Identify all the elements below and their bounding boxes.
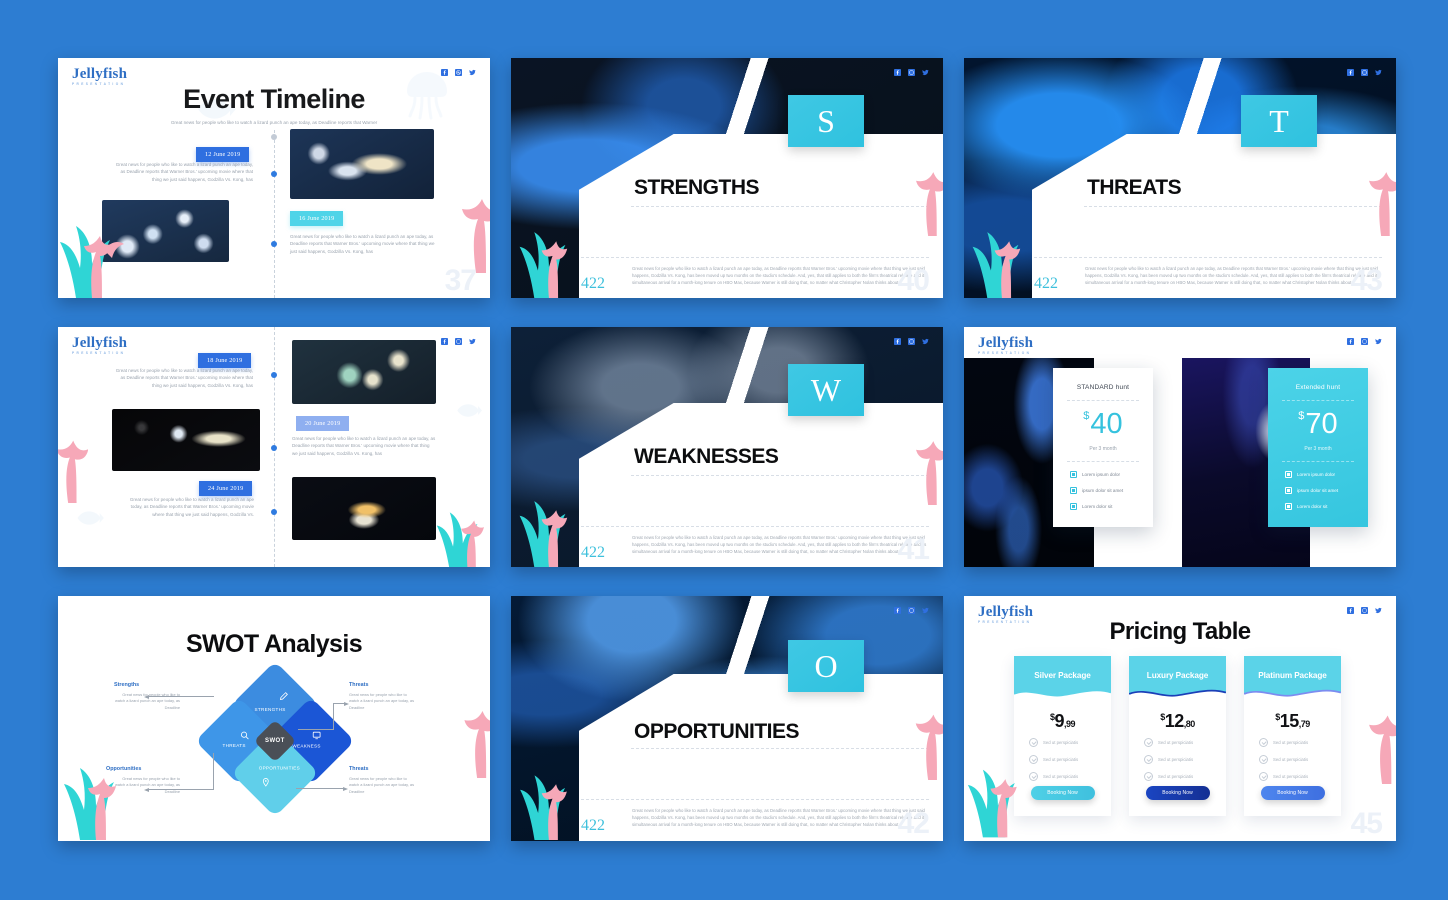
swot-callout-text: Great news for people who like to watch … [114, 776, 180, 795]
timeline-dot [271, 134, 277, 140]
seaweed-coral-decoration-icon [430, 475, 490, 567]
bullet-square-icon [1285, 471, 1292, 478]
dribbble-icon[interactable] [1361, 338, 1368, 345]
coral-decoration-icon [1362, 696, 1396, 784]
booking-now-button[interactable]: Booking Now [1146, 786, 1210, 800]
swot-diagram: STRENGTHS THREATS WEAKNESS OPPORTUNITIES… [210, 678, 340, 803]
check-circle-icon [1259, 772, 1268, 781]
bullet-square-icon [1285, 503, 1292, 510]
brand-logo-subtitle: PRESENTATION [978, 351, 1033, 355]
pricing-card-period: Per 3 month [1268, 446, 1368, 452]
check-circle-icon [1259, 755, 1268, 764]
letter-badge: T [1241, 95, 1317, 147]
page-number: 41 [898, 535, 929, 565]
pricing-feature-label: Sed ut perspiciatis [1158, 757, 1193, 762]
twitter-icon[interactable] [922, 607, 929, 614]
timeline-photo[interactable] [112, 409, 260, 471]
pricing-card-header: Luxury Package [1129, 656, 1226, 699]
connector-arrow [148, 789, 214, 790]
check-circle-icon [1144, 755, 1153, 764]
dribbble-icon[interactable] [1361, 69, 1368, 76]
pricing-feature: Sed ut perspiciatis [1244, 738, 1341, 747]
facebook-icon[interactable] [894, 338, 901, 345]
price-decimal: ,80 [1184, 719, 1195, 729]
timeline-text: Great news for people who like to watch … [118, 496, 254, 518]
swot-callout-text: Great news for people who like to watch … [349, 692, 415, 711]
check-circle-icon [1259, 738, 1268, 747]
check-circle-icon [1029, 772, 1038, 781]
divider [581, 257, 929, 258]
facebook-icon[interactable] [1347, 338, 1354, 345]
brand-logo-subtitle: PRESENTATION [72, 351, 127, 355]
section-heading: THREATS [1087, 176, 1181, 200]
letter-badge-text: T [1269, 105, 1289, 137]
pricing-card-period: Per 3 month [1053, 446, 1153, 452]
swot-callout-label-threats-2: Threats [349, 766, 368, 772]
slide-event-timeline-2[interactable]: Jellyfish PRESENTATION 18 June 2019 Grea… [58, 327, 490, 567]
twitter-icon[interactable] [469, 338, 476, 345]
pricing-feature-label: Sed ut perspiciatis [1043, 774, 1078, 779]
divider [631, 748, 929, 749]
fish-watermark-icon [456, 402, 482, 419]
brand-logo[interactable]: Jellyfish PRESENTATION [72, 335, 127, 355]
pricing-feature-label: Sed ut perspiciatis [1043, 757, 1078, 762]
bullet-square-icon [1070, 471, 1077, 478]
brand-logo-text: Jellyfish [72, 335, 127, 351]
facebook-icon[interactable] [1347, 69, 1354, 76]
swot-diamond-label: STRENGTHS [255, 707, 286, 712]
pricing-feature: ipsum dolor sit amet [1053, 487, 1153, 494]
check-circle-icon [1029, 738, 1038, 747]
slide-pricing-table[interactable]: Jellyfish PRESENTATION Pricing Table Sil… [964, 596, 1396, 841]
section-body: Great news for people who like to watch … [632, 266, 930, 287]
slide-opportunities[interactable]: O OPPORTUNITIES 422 Great news for peopl… [511, 596, 943, 841]
pricing-card-header: Platinum Package [1244, 656, 1341, 699]
brand-logo-text: Jellyfish [72, 66, 127, 82]
connector-arrow [148, 696, 214, 697]
dribbble-icon[interactable] [455, 69, 462, 76]
booking-now-button[interactable]: Booking Now [1031, 786, 1095, 800]
pricing-card-price: $9,99 [1014, 712, 1111, 730]
check-circle-icon [1029, 755, 1038, 764]
page-number: 44 [1351, 535, 1382, 565]
timeline-photo[interactable] [292, 340, 436, 404]
twitter-icon[interactable] [469, 69, 476, 76]
bullet-square-icon [1285, 487, 1292, 494]
pricing-feature-label: Lorem dolor sit [1082, 504, 1112, 509]
dribbble-icon[interactable] [1361, 607, 1368, 614]
timeline-date-badge[interactable]: 12 June 2019 [196, 147, 249, 162]
timeline-text: Great news for people who like to watch … [292, 435, 436, 457]
section-body: Great news for people who like to watch … [1085, 266, 1383, 287]
coral-decoration-icon [458, 692, 490, 778]
page-number: 37 [445, 266, 476, 296]
swot-diamond-label: WEAKNESS [292, 743, 320, 748]
pricing-card-price: $40 [1053, 410, 1153, 439]
pricing-feature: Sed ut perspiciatis [1129, 772, 1226, 781]
swot-diamond-label: THREATS [223, 743, 246, 748]
check-circle-icon [1144, 738, 1153, 747]
pricing-card-price: $15,79 [1244, 712, 1341, 730]
social-links[interactable] [894, 69, 929, 76]
divider [631, 475, 929, 476]
price-value: 70 [1305, 408, 1337, 440]
connector-arrow [296, 788, 344, 789]
page-number: 40 [898, 266, 929, 296]
letter-badge: W [788, 364, 864, 416]
page-number: 43 [1351, 266, 1382, 296]
timeline-photo[interactable] [292, 477, 436, 540]
pricing-feature: Sed ut perspiciatis [1014, 772, 1111, 781]
pen-icon [278, 692, 288, 702]
letter-badge-text: W [811, 374, 841, 406]
pricing-feature-label: Lorem dolor sit [1297, 504, 1327, 509]
booking-now-button[interactable]: Booking Now [1261, 786, 1325, 800]
swot-callout-text: Great news for people who like to watch … [349, 776, 415, 795]
twitter-icon[interactable] [922, 69, 929, 76]
pricing-feature-label: ipsum dolor sit amet [1297, 488, 1338, 493]
divider [1067, 461, 1139, 462]
dribbble-icon[interactable] [908, 69, 915, 76]
pricing-feature-label: ipsum dolor sit amet [1082, 488, 1123, 493]
page-number: 45 [1351, 809, 1382, 839]
location-pin-icon [261, 777, 271, 787]
bullet-square-icon [1070, 503, 1077, 510]
divider [1084, 206, 1382, 207]
pricing-card-silver[interactable]: Silver Package $9,99 Sed ut perspiciatis… [1014, 656, 1111, 816]
social-links[interactable] [1347, 607, 1382, 614]
section-body: Great news for people who like to watch … [632, 535, 930, 556]
divider [1282, 400, 1354, 401]
bullet-square-icon [1070, 487, 1077, 494]
social-links[interactable] [894, 338, 929, 345]
section-heading: STRENGTHS [634, 176, 759, 200]
timeline-date-badge[interactable]: 20 June 2019 [296, 416, 349, 431]
slide-board: Jellyfish PRESENTATION Event Timeline Gr… [0, 0, 1448, 900]
fish-watermark-icon [76, 509, 104, 527]
pricing-feature-label: Sed ut perspiciatis [1273, 757, 1308, 762]
page-title: Event Timeline [58, 84, 490, 115]
timeline-text: Great news for people who like to watch … [113, 161, 253, 183]
pricing-card-extended[interactable]: Extended hunt $70 Per 3 month Lorem ipsu… [1268, 368, 1368, 527]
price-decimal: ,99 [1064, 719, 1075, 729]
divider [1067, 400, 1139, 401]
social-links[interactable] [894, 607, 929, 614]
connector-line [333, 703, 334, 729]
social-links[interactable] [441, 338, 476, 345]
social-links[interactable] [1347, 338, 1382, 345]
twitter-icon[interactable] [1375, 69, 1382, 76]
timeline-photo[interactable] [290, 129, 434, 199]
timeline-date-badge[interactable]: 16 June 2019 [290, 211, 343, 226]
brand-logo-text: Jellyfish [978, 335, 1033, 351]
coral-decoration-icon [456, 178, 490, 273]
pricing-feature: Sed ut perspiciatis [1014, 738, 1111, 747]
timeline-date-badge[interactable]: 24 June 2019 [199, 481, 252, 496]
price-integer: 15 [1280, 711, 1299, 731]
price-value: 40 [1090, 408, 1122, 440]
letter-badge: S [788, 95, 864, 147]
currency-symbol: $ [1083, 410, 1089, 422]
timeline-photo[interactable] [102, 200, 229, 262]
section-heading: WEAKNESSES [634, 445, 778, 469]
dribbble-icon[interactable] [908, 338, 915, 345]
slide-strengths[interactable]: S STRENGTHS 422 Great news for people wh… [511, 58, 943, 298]
timeline-dot[interactable] [271, 372, 277, 378]
section-body: Great news for people who like to watch … [632, 808, 930, 829]
slide-swot-analysis[interactable]: SWOT Analysis STRENGTHS THREATS WEAKNESS… [58, 596, 490, 841]
price-integer: 9 [1054, 711, 1064, 731]
pricing-card-title: Extended hunt [1268, 368, 1368, 391]
stat-number: 422 [1034, 275, 1058, 293]
check-circle-icon [1144, 772, 1153, 781]
letter-badge-text: O [814, 650, 837, 682]
pricing-card-title: STANDARD hunt [1053, 368, 1153, 391]
timeline-dot[interactable] [271, 509, 277, 515]
pricing-feature-label: Sed ut perspiciatis [1158, 774, 1193, 779]
facebook-icon[interactable] [1347, 607, 1354, 614]
divider [581, 799, 929, 800]
facebook-icon[interactable] [894, 69, 901, 76]
facebook-icon[interactable] [441, 69, 448, 76]
currency-symbol: $ [1298, 410, 1304, 422]
pricing-feature: Sed ut perspiciatis [1129, 755, 1226, 764]
divider [1034, 257, 1382, 258]
twitter-icon[interactable] [1375, 338, 1382, 345]
pricing-card-luxury[interactable]: Luxury Package $12,80 Sed ut perspiciati… [1129, 656, 1226, 816]
page-title: SWOT Analysis [58, 630, 490, 659]
pricing-feature: Lorem dolor sit [1268, 503, 1368, 510]
price-decimal: ,79 [1299, 719, 1310, 729]
pricing-feature-label: Lorem ipsum dolor [1297, 472, 1335, 477]
page-title: Pricing Table [964, 618, 1396, 646]
timeline-date-badge[interactable]: 18 June 2019 [198, 353, 251, 368]
swot-callout-label-threats: Threats [349, 682, 368, 688]
timeline-text: Great news for people who like to watch … [290, 233, 437, 255]
brand-logo[interactable]: Jellyfish PRESENTATION [72, 66, 127, 86]
pricing-card-title: Luxury Package [1129, 656, 1226, 699]
timeline-dot[interactable] [271, 171, 277, 177]
pricing-feature: Sed ut perspiciatis [1129, 738, 1226, 747]
social-links[interactable] [441, 69, 476, 76]
facebook-icon[interactable] [894, 607, 901, 614]
connector-line [213, 753, 214, 790]
pricing-card-price: $12,80 [1129, 712, 1226, 730]
timeline-dot[interactable] [271, 445, 277, 451]
pricing-card-title: Platinum Package [1244, 656, 1341, 699]
pricing-feature: Sed ut perspiciatis [1244, 772, 1341, 781]
connector-line [298, 729, 334, 730]
stat-number: 422 [581, 275, 605, 293]
pricing-feature-label: Sed ut perspiciatis [1043, 740, 1078, 745]
swot-callout-label-strengths: Strengths [114, 682, 139, 688]
twitter-icon[interactable] [922, 338, 929, 345]
pricing-card-standard[interactable]: STANDARD hunt $40 Per 3 month Lorem ipsu… [1053, 368, 1153, 527]
stat-number: 422 [581, 544, 605, 562]
pricing-card-header: Silver Package [1014, 656, 1111, 699]
pricing-card-title: Silver Package [1014, 656, 1111, 699]
coral-decoration-icon [58, 423, 88, 503]
pricing-feature-label: Sed ut perspiciatis [1273, 740, 1308, 745]
letter-badge: O [788, 640, 864, 692]
letter-badge-text: S [817, 105, 835, 137]
dribbble-icon[interactable] [455, 338, 462, 345]
divider [631, 206, 929, 207]
pricing-feature: Sed ut perspiciatis [1244, 755, 1341, 764]
pricing-feature: Lorem ipsum dolor [1053, 471, 1153, 478]
twitter-icon[interactable] [1375, 607, 1382, 614]
pricing-feature: Lorem ipsum dolor [1268, 471, 1368, 478]
social-links[interactable] [1347, 69, 1382, 76]
connector-arrow [333, 703, 345, 704]
stat-number: 422 [581, 817, 605, 835]
swot-callout-label-opportunities: Opportunities [106, 766, 141, 772]
dribbble-icon[interactable] [908, 607, 915, 614]
divider [581, 526, 929, 527]
pricing-feature: Sed ut perspiciatis [1014, 755, 1111, 764]
page-number: 42 [898, 809, 929, 839]
pricing-feature: ipsum dolor sit amet [1268, 487, 1368, 494]
pricing-feature-label: Sed ut perspiciatis [1158, 740, 1193, 745]
slide-pricing-two[interactable]: Jellyfish PRESENTATION STANDARD hunt $40… [964, 327, 1396, 567]
pricing-card-price: $70 [1268, 410, 1368, 439]
timeline-text: Great news for people who like to watch … [113, 367, 253, 389]
divider [1282, 461, 1354, 462]
pricing-feature: Lorem dolor sit [1053, 503, 1153, 510]
page-subtitle: Great news for people who like to watch … [128, 120, 420, 127]
timeline-axis [274, 130, 275, 298]
pricing-feature-label: Sed ut perspiciatis [1273, 774, 1308, 779]
slide-weaknesses[interactable]: W WEAKNESSES 422 Great news for people w… [511, 327, 943, 567]
section-heading: OPPORTUNITIES [634, 720, 799, 744]
slide-threats[interactable]: T THREATS 422 Great news for people who … [964, 58, 1396, 298]
swot-core-label: SWOT [265, 737, 285, 743]
price-integer: 12 [1165, 711, 1184, 731]
monitor-icon [312, 730, 322, 740]
slide-event-timeline[interactable]: Jellyfish PRESENTATION Event Timeline Gr… [58, 58, 490, 298]
facebook-icon[interactable] [441, 338, 448, 345]
swot-diamond-label: OPPORTUNITIES [259, 766, 300, 771]
timeline-dot[interactable] [271, 241, 277, 247]
pricing-card-platinum[interactable]: Platinum Package $15,79 Sed ut perspicia… [1244, 656, 1341, 816]
brand-logo[interactable]: Jellyfish PRESENTATION [978, 335, 1033, 355]
pricing-feature-label: Lorem ipsum dolor [1082, 472, 1120, 477]
search-icon [240, 730, 250, 740]
